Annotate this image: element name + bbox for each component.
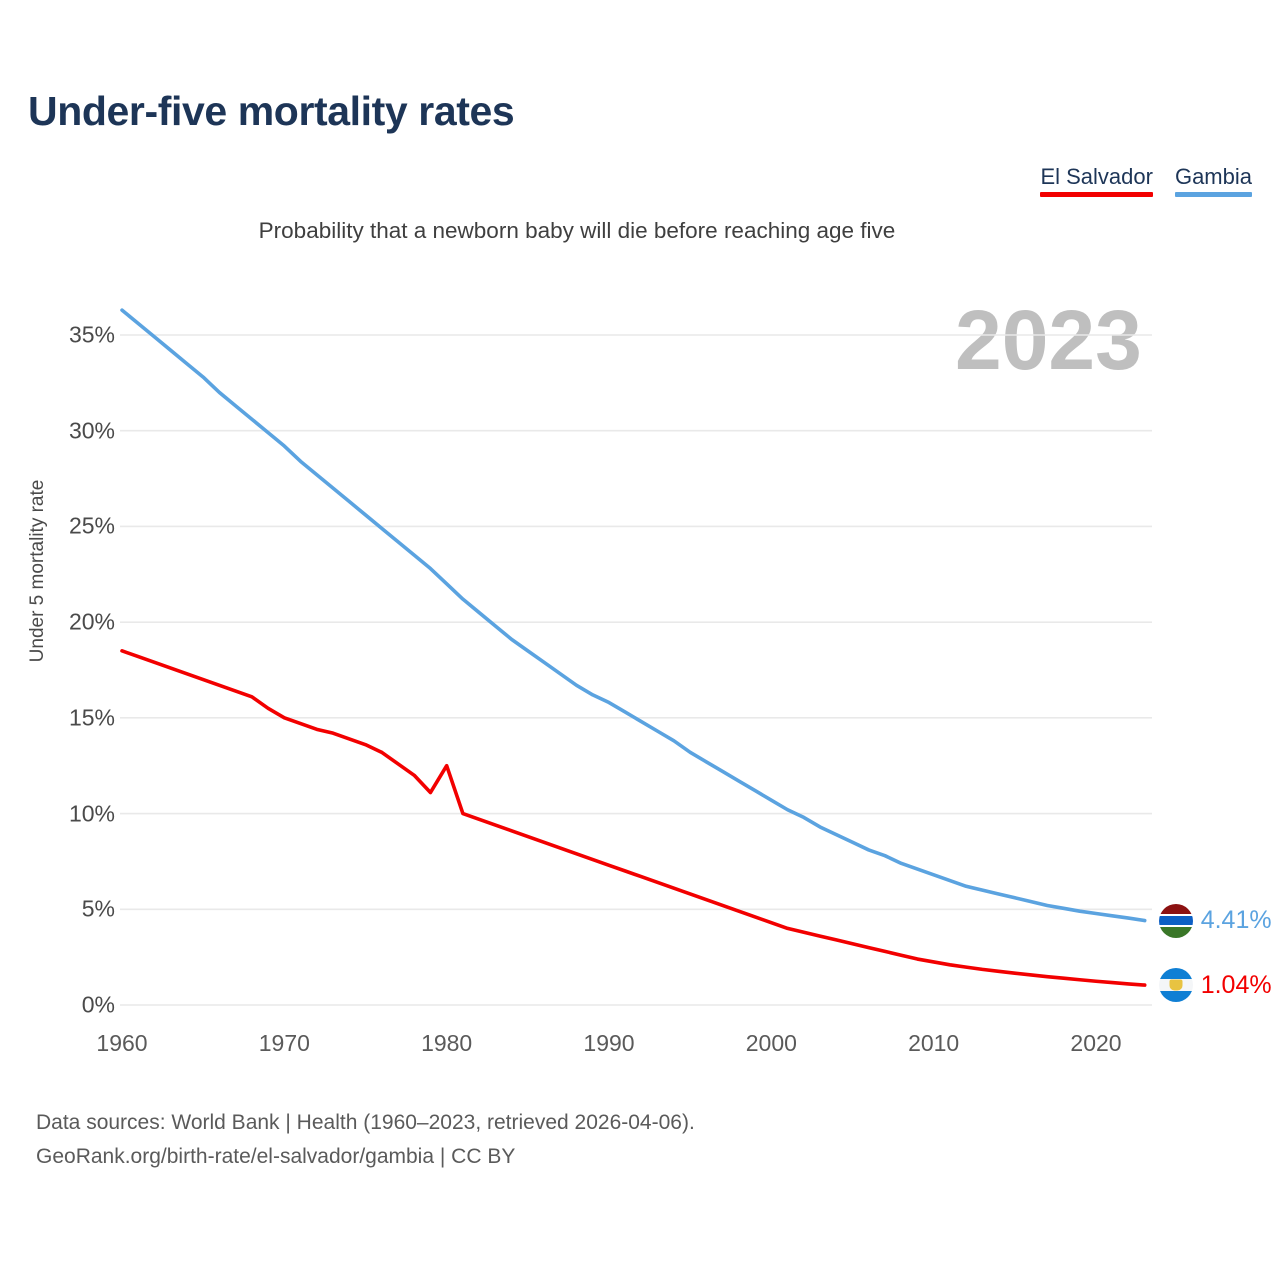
series-line-gambia [122, 310, 1145, 920]
end-value-el-salvador: 1.04% [1201, 971, 1272, 1000]
y-tick-label: 20% [0, 609, 115, 636]
gambia-flag-icon [1159, 904, 1193, 938]
x-tick-label: 1990 [549, 1030, 669, 1057]
end-label-el-salvador: 1.04% [1159, 968, 1272, 1002]
x-tick-label: 2010 [874, 1030, 994, 1057]
y-tick-label: 10% [0, 800, 115, 827]
x-tick-label: 2000 [711, 1030, 831, 1057]
footer-data-sources: Data sources: World Bank | Health (1960–… [36, 1106, 695, 1140]
footer-attribution: GeoRank.org/birth-rate/el-salvador/gambi… [36, 1140, 695, 1174]
x-tick-label: 1960 [62, 1030, 182, 1057]
y-tick-label: 0% [0, 992, 115, 1019]
gridlines [120, 335, 1152, 1005]
y-tick-label: 5% [0, 896, 115, 923]
y-tick-label: 30% [0, 417, 115, 444]
series-line-el-salvador [122, 651, 1145, 985]
y-tick-label: 15% [0, 704, 115, 731]
y-tick-label: 35% [0, 322, 115, 349]
chart-page: Under-five mortality rates El Salvador G… [0, 0, 1280, 1280]
footer: Data sources: World Bank | Health (1960–… [36, 1106, 695, 1174]
series-lines [122, 310, 1145, 985]
x-tick-label: 2020 [1036, 1030, 1156, 1057]
x-tick-label: 1980 [387, 1030, 507, 1057]
y-tick-label: 25% [0, 513, 115, 540]
coat-of-arms-icon [1169, 980, 1182, 991]
x-tick-label: 1970 [224, 1030, 344, 1057]
end-label-gambia: 4.41% [1159, 904, 1272, 938]
el-salvador-flag-icon [1159, 968, 1193, 1002]
chart-plot-area [0, 0, 1280, 1280]
end-value-gambia: 4.41% [1201, 906, 1272, 935]
